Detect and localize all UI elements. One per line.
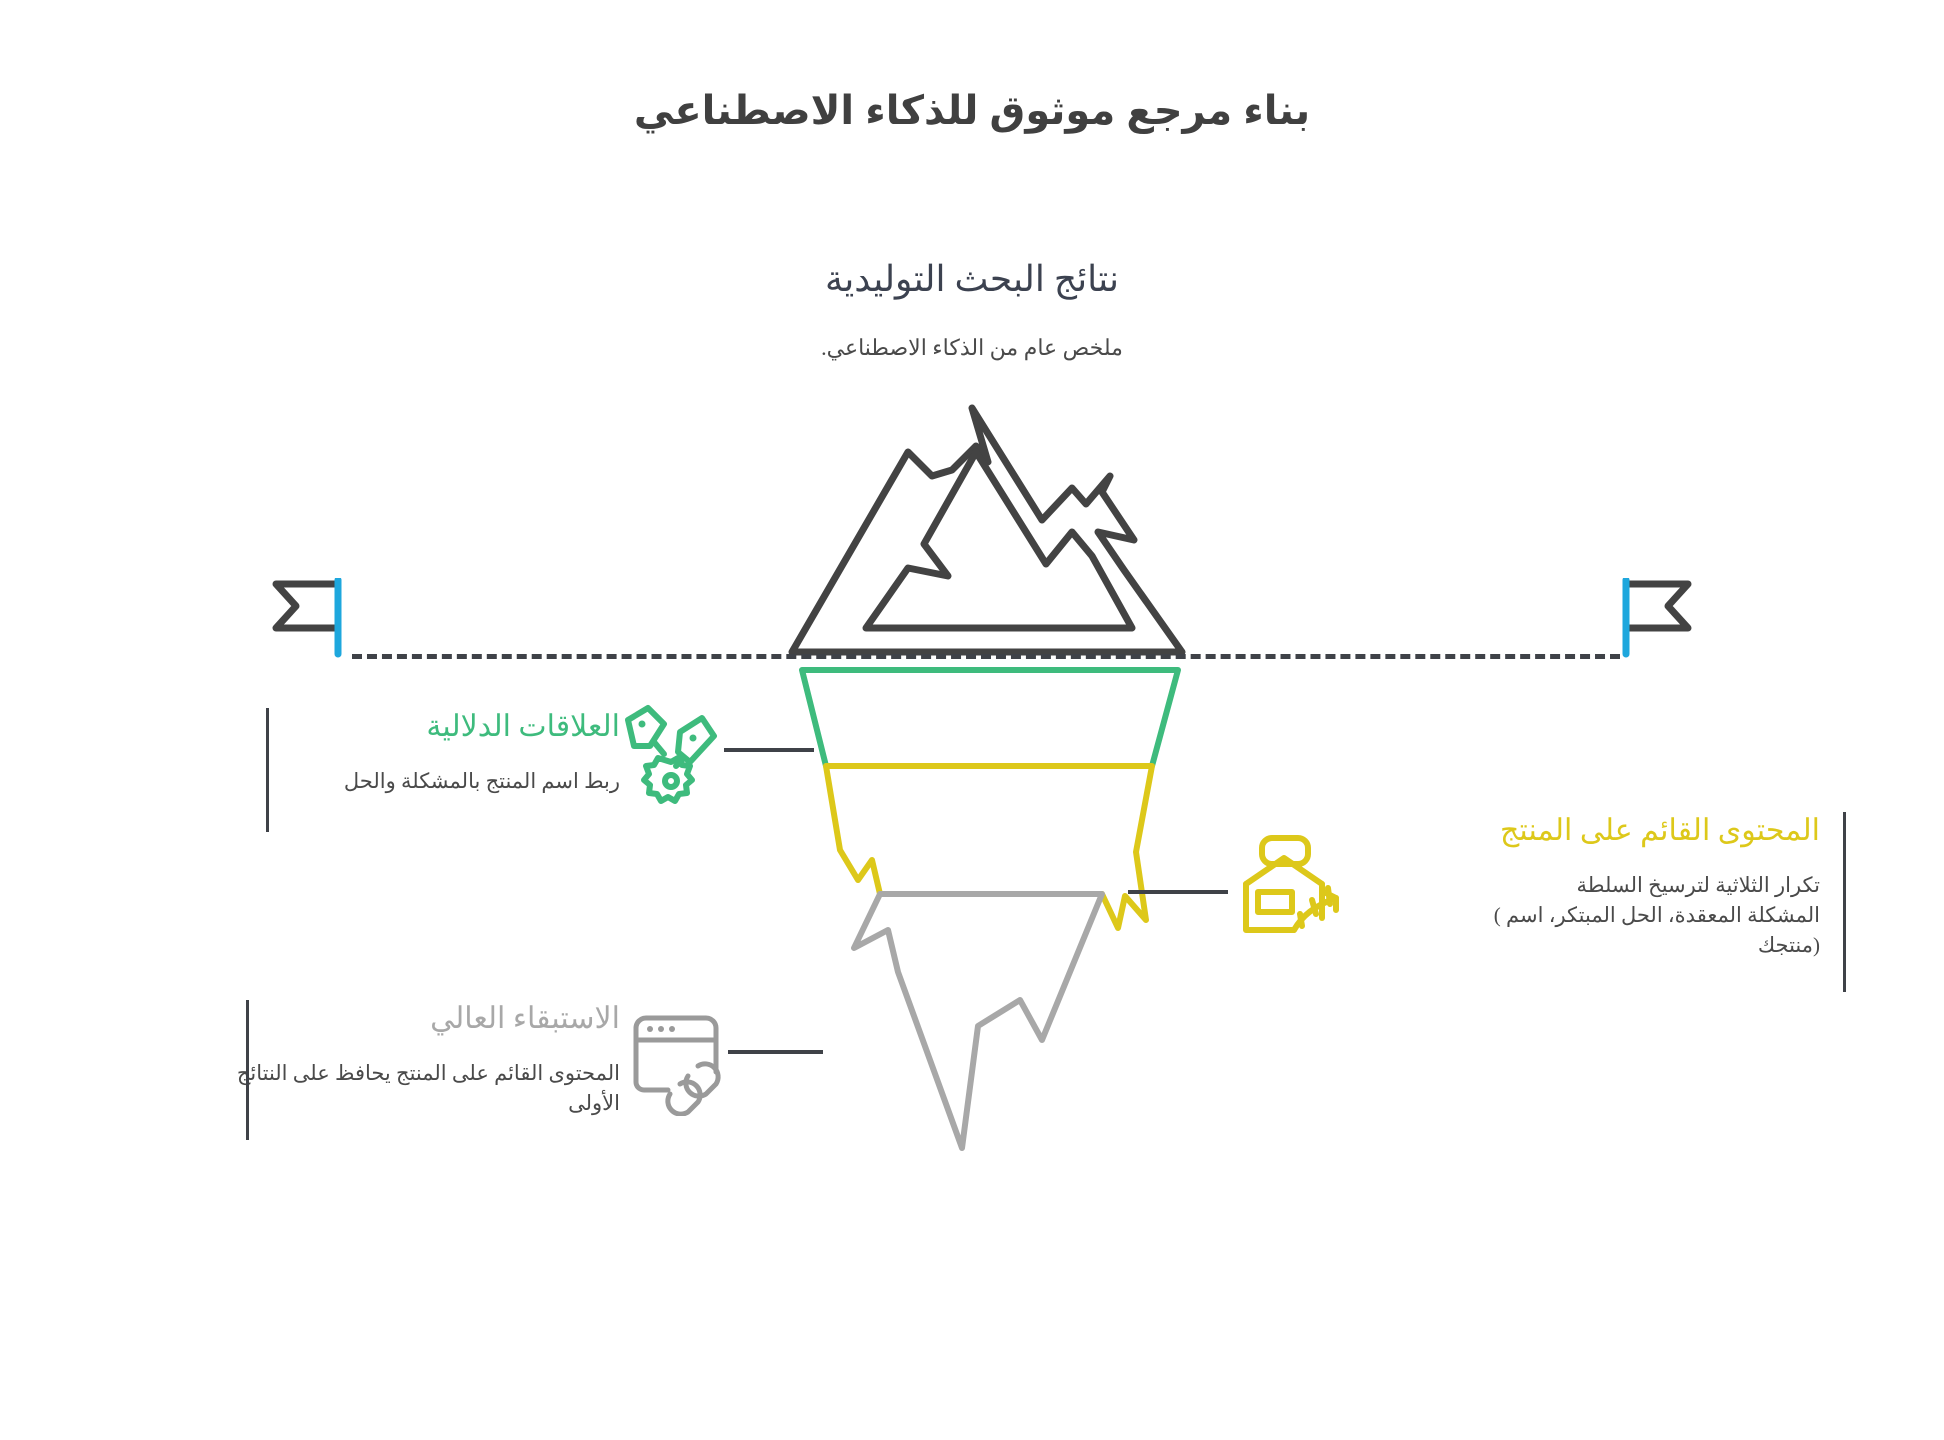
above-water-heading: نتائج البحث التوليدية — [0, 258, 1944, 300]
infographic-canvas: بناء مرجع موثوق للذكاء الاصطناعي نتائج ا… — [0, 0, 1944, 1440]
callout-body: تكرار الثلاثية لترسيخ السلطة المشكلة الم… — [1420, 870, 1820, 961]
callout-product: المحتوى القائم على المنتج تكرار الثلاثية… — [1420, 812, 1820, 961]
callout-title: المحتوى القائم على المنتج — [1420, 812, 1820, 850]
mountain-icon — [792, 408, 1182, 652]
callout-retention: الاستبقاء العالي المحتوى القائم على المن… — [270, 1000, 620, 1118]
iceberg-tier-grey — [854, 894, 1102, 1148]
callout-divider — [246, 1000, 249, 1140]
callout-body-line: المحتوى القائم على المنتج يحافظ على النت… — [270, 1058, 620, 1088]
callout-body: ربط اسم المنتج بالمشكلة والحل — [290, 766, 620, 796]
page-title: بناء مرجع موثوق للذكاء الاصطناعي — [0, 88, 1944, 134]
callout-body: المحتوى القائم على المنتج يحافظ على النت… — [270, 1058, 620, 1119]
iceberg-tier-green — [802, 670, 1178, 766]
callout-divider — [266, 708, 269, 832]
callout-body-line: الأولى — [270, 1088, 620, 1118]
callout-divider — [1843, 812, 1846, 992]
callout-body-line: المشكلة المعقدة، الحل المبتكر، اسم ) — [1420, 900, 1820, 930]
connector-line-product — [1128, 890, 1228, 894]
flag-right-icon — [1612, 578, 1702, 663]
browser-link-icon — [628, 1006, 743, 1121]
connector-line-semantic — [724, 748, 814, 752]
tags-icon — [618, 702, 728, 812]
callout-semantic: العلاقات الدلالية ربط اسم المنتج بالمشكل… — [290, 708, 620, 796]
flag-left-icon — [262, 578, 352, 663]
callout-body-line: تكرار الثلاثية لترسيخ السلطة — [1420, 870, 1820, 900]
callout-title: العلاقات الدلالية — [290, 708, 620, 746]
callout-title: الاستبقاء العالي — [270, 1000, 620, 1038]
package-icon — [1232, 832, 1352, 957]
above-water-subtitle: ملخص عام من الذكاء الاصطناعي. — [0, 335, 1944, 361]
waterline-dashed — [352, 654, 1620, 659]
iceberg-diagram — [780, 380, 1200, 1305]
callout-body-line: ربط اسم المنتج بالمشكلة والحل — [290, 766, 620, 796]
callout-body-line: (منتجك — [1420, 930, 1820, 960]
